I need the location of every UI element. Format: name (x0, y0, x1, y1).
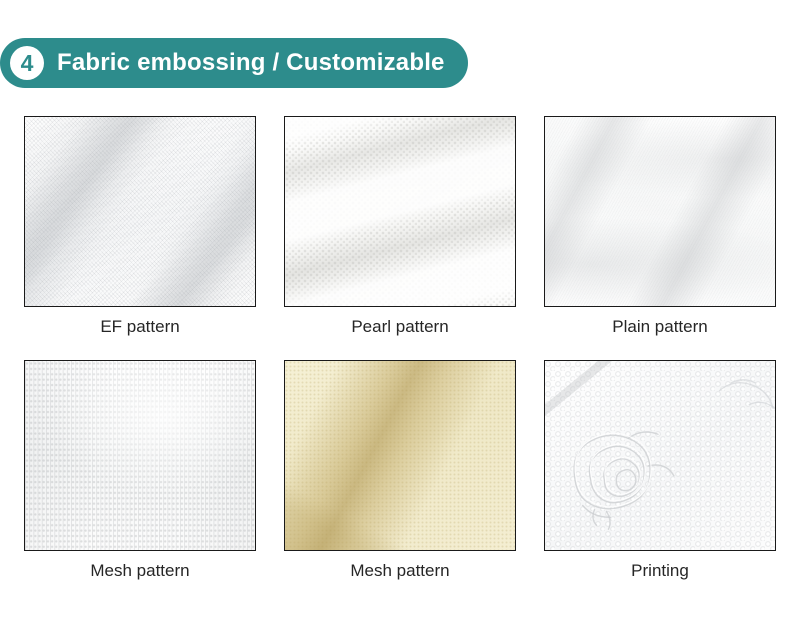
swatch-cell-mesh-pattern-yellow[interactable]: Mesh pattern (284, 360, 516, 595)
swatch-cell-printing[interactable]: Printing (544, 360, 776, 595)
section-header-banner: 4 Fabric embossing / Customizable (0, 38, 468, 88)
swatch-caption-ef-pattern: EF pattern (24, 307, 256, 351)
fabric-image-plain-pattern (545, 117, 775, 306)
swatch-image-frame-pearl-pattern[interactable] (284, 116, 516, 307)
fabric-image-mesh-pattern-yellow (285, 361, 515, 550)
swatch-image-frame-plain-pattern[interactable] (544, 116, 776, 307)
swatch-cell-plain-pattern[interactable]: Plain pattern (544, 116, 776, 351)
swatch-image-frame-ef-pattern[interactable] (24, 116, 256, 307)
step-number-badge: 4 (10, 46, 44, 80)
swatch-image-frame-mesh-pattern-yellow[interactable] (284, 360, 516, 551)
rose-emboss-motif-icon (545, 361, 775, 550)
page-title: Fabric embossing / Customizable (57, 49, 445, 77)
swatch-caption-mesh-pattern-white: Mesh pattern (24, 551, 256, 595)
fabric-image-mesh-pattern-white (25, 361, 255, 550)
swatch-cell-ef-pattern[interactable]: EF pattern (24, 116, 256, 351)
fabric-image-pearl-pattern (285, 117, 515, 306)
swatch-image-frame-printing[interactable] (544, 360, 776, 551)
swatch-cell-mesh-pattern-white[interactable]: Mesh pattern (24, 360, 256, 595)
fabric-image-ef-pattern (25, 117, 255, 306)
fabric-swatch-grid: EF pattern Pearl pattern Plain pattern M… (24, 116, 770, 594)
swatch-cell-pearl-pattern[interactable]: Pearl pattern (284, 116, 516, 351)
swatch-caption-pearl-pattern: Pearl pattern (284, 307, 516, 351)
swatch-image-frame-mesh-pattern-white[interactable] (24, 360, 256, 551)
swatch-caption-printing: Printing (544, 551, 776, 595)
swatch-caption-plain-pattern: Plain pattern (544, 307, 776, 351)
fabric-image-printing (545, 361, 775, 550)
swatch-caption-mesh-pattern-yellow: Mesh pattern (284, 551, 516, 595)
